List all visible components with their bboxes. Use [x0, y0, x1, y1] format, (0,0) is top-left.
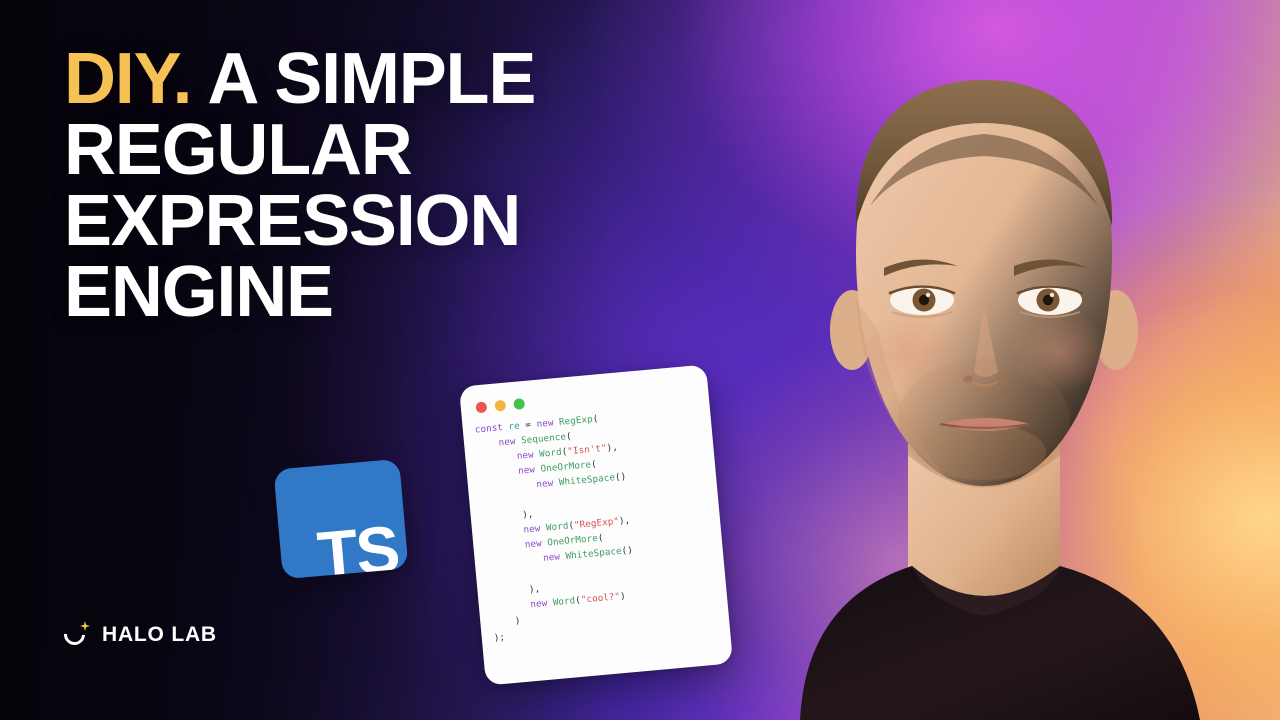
minimize-dot[interactable]: [494, 400, 506, 412]
code-token-str: "Isn't": [567, 443, 607, 458]
code-token-punct: ),: [619, 515, 631, 527]
code-token-plain: [487, 553, 544, 569]
code-token-cls: OneOrMore: [540, 459, 591, 475]
brand-logo[interactable]: HALO LAB: [64, 622, 217, 647]
code-token-punct: (): [621, 545, 633, 557]
code-token-plain: [489, 584, 529, 599]
code-token-cls: RegExp: [559, 414, 594, 428]
code-token-cls: WhiteSpace: [558, 472, 615, 488]
code-token-cls: Word: [546, 521, 569, 534]
code-token-plain: [476, 437, 499, 450]
code-token-punct: (: [592, 413, 599, 424]
code-token-plain: [477, 451, 517, 466]
headline-line-4: ENGINE: [64, 257, 764, 328]
brand-logo-label: HALO LAB: [102, 623, 217, 647]
code-token-punct: (): [614, 471, 626, 483]
code-token-str: "RegExp": [574, 516, 620, 531]
code-token-kw: new: [536, 417, 554, 429]
headline-line-1-rest: A SIMPLE: [207, 39, 535, 119]
code-token-plain: [491, 599, 531, 614]
code-token-plain: [484, 525, 524, 540]
typescript-logo: TS: [273, 459, 408, 580]
page-title: DIY. A SIMPLE REGULAR EXPRESSION ENGINE: [64, 44, 764, 328]
typescript-logo-label: TS: [315, 515, 401, 579]
code-token-cls: Word: [539, 447, 562, 460]
code-snippet-window: const re = new RegExp( new Sequence( new…: [459, 364, 733, 685]
code-token-punct: (: [591, 458, 598, 469]
halo-arc-sparkle-icon: [64, 622, 89, 647]
code-token-punct: ),: [522, 509, 534, 521]
code-token-plain: =: [519, 419, 537, 431]
code-token-plain: [483, 510, 523, 525]
headline-accent-word: DIY.: [64, 39, 191, 119]
code-token-punct: (: [566, 431, 573, 442]
code-token-kw: new: [543, 552, 561, 564]
close-dot[interactable]: [475, 401, 487, 413]
headline-line-1: DIY. A SIMPLE: [64, 44, 764, 115]
code-token-kw: new: [516, 449, 534, 461]
code-token-plain: [492, 616, 515, 629]
code-token-punct: ): [514, 615, 521, 626]
code-block: const re = new RegExp( new Sequence( new…: [474, 403, 719, 646]
code-token-kw: new: [498, 436, 516, 448]
code-token-cls: WhiteSpace: [565, 546, 622, 562]
code-token-plain: [485, 540, 525, 555]
code-token-punct: );: [493, 631, 505, 643]
maximize-dot[interactable]: [513, 398, 525, 410]
code-token-cls: OneOrMore: [547, 533, 598, 549]
code-token-plain: [478, 466, 518, 481]
code-token-kw: new: [530, 598, 548, 610]
code-token-punct: ),: [606, 442, 618, 454]
code-token-kw: new: [536, 477, 554, 489]
code-token-punct: (: [597, 533, 604, 544]
code-token-plain: [480, 479, 537, 495]
code-token-str: "cool?": [580, 591, 620, 606]
code-token-kw: new: [518, 464, 536, 476]
thumbnail-canvas: DIY. A SIMPLE REGULAR EXPRESSION ENGINE …: [0, 0, 1280, 720]
code-token-punct: ): [620, 590, 627, 601]
code-token-cls: Sequence: [521, 431, 567, 446]
code-token-kw: new: [524, 538, 542, 550]
code-token-punct: ),: [529, 583, 541, 595]
headline-line-3: EXPRESSION: [64, 186, 764, 257]
code-token-cls: Word: [552, 595, 575, 608]
code-token-kw: const: [474, 422, 503, 436]
headline-line-2: REGULAR: [64, 115, 764, 186]
code-token-kw: new: [523, 523, 541, 535]
